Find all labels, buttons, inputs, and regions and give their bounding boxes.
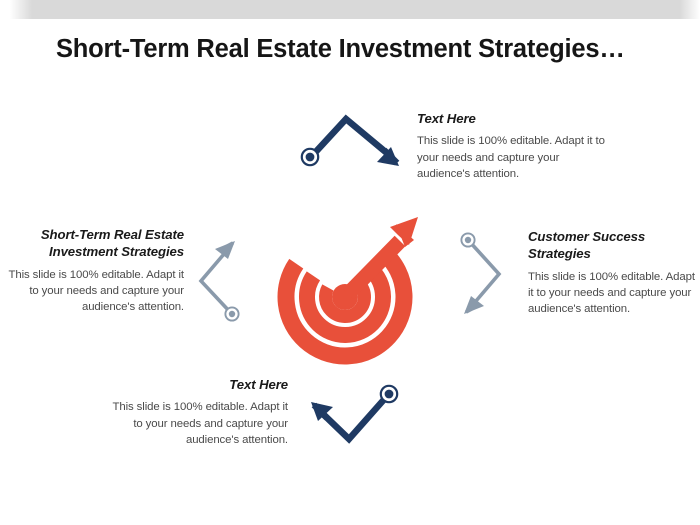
slide-canvas: Short-Term Real Estate Investment Strate… [0, 0, 700, 525]
connector-right-slate-arrow-stem [466, 305, 479, 312]
text-block-top-right-heading: Text Here [417, 110, 607, 127]
text-block-bottom-heading: Text Here [108, 376, 288, 393]
text-block-right: Customer Success Strategies This slide i… [528, 228, 696, 317]
connector-top-left-navy-line [311, 119, 388, 157]
connector-left-slate-arrow-stem [220, 243, 233, 250]
connector-bottom-navy-line [322, 395, 388, 439]
top-band-left-fade [0, 0, 32, 19]
text-block-left: Short-Term Real Estate Investment Strate… [6, 226, 184, 315]
target-icon [262, 214, 429, 381]
connector-left-slate [201, 241, 239, 321]
connector-top-left-navy-dot-ring [302, 149, 318, 165]
text-block-bottom: Text Here This slide is 100% editable. A… [108, 376, 288, 448]
connector-bottom-navy-dot-ring [381, 386, 397, 402]
target-arrow-shaft [348, 241, 400, 294]
text-block-top-right: Text Here This slide is 100% editable. A… [417, 110, 607, 182]
connector-top-left-navy-arrowhead [377, 147, 399, 166]
top-band-right-fade [680, 0, 700, 19]
target-arrow-fletch [396, 224, 414, 247]
text-block-left-body: This slide is 100% editable. Adapt it to… [6, 267, 184, 316]
target-arrow-head [390, 217, 418, 245]
connector-right-slate-dot-ring [461, 233, 474, 246]
text-block-right-body: This slide is 100% editable. Adapt it to… [528, 269, 696, 318]
text-block-bottom-body: This slide is 100% editable. Adapt it to… [108, 399, 288, 448]
text-block-right-heading: Customer Success Strategies [528, 228, 696, 263]
target-ring-outer [262, 214, 429, 381]
text-block-top-right-body: This slide is 100% editable. Adapt it to… [417, 133, 607, 182]
connector-left-slate-dot-center [229, 311, 235, 317]
target-bullseye [332, 284, 358, 310]
text-block-left-heading: Short-Term Real Estate Investment Strate… [6, 226, 184, 261]
connector-right-slate-arrowhead [464, 296, 484, 314]
target-ring-middle [291, 243, 398, 350]
connector-bottom-navy [311, 386, 397, 439]
connector-bottom-navy-arrowhead [311, 402, 333, 421]
connector-bottom-navy-dot-center [385, 390, 394, 399]
connector-right-slate [461, 233, 499, 314]
connector-top-left-navy-arrow-stem [384, 150, 397, 163]
slide-content-area: Short-Term Real Estate Investment Strate… [0, 19, 700, 525]
connector-left-slate-arrowhead [215, 241, 235, 259]
top-gray-band [0, 0, 700, 19]
connector-top-left-navy-dot-center [306, 153, 315, 162]
connector-right-slate-dot-center [465, 237, 471, 243]
connector-top-left-navy [302, 119, 399, 166]
target-ring-inner [317, 269, 372, 324]
connector-left-slate-dot-ring [225, 307, 238, 320]
connector-bottom-navy-arrow-stem [314, 405, 327, 418]
connector-right-slate-line [469, 241, 499, 301]
page-title: Short-Term Real Estate Investment Strate… [56, 35, 656, 63]
connector-left-slate-line [201, 254, 231, 313]
